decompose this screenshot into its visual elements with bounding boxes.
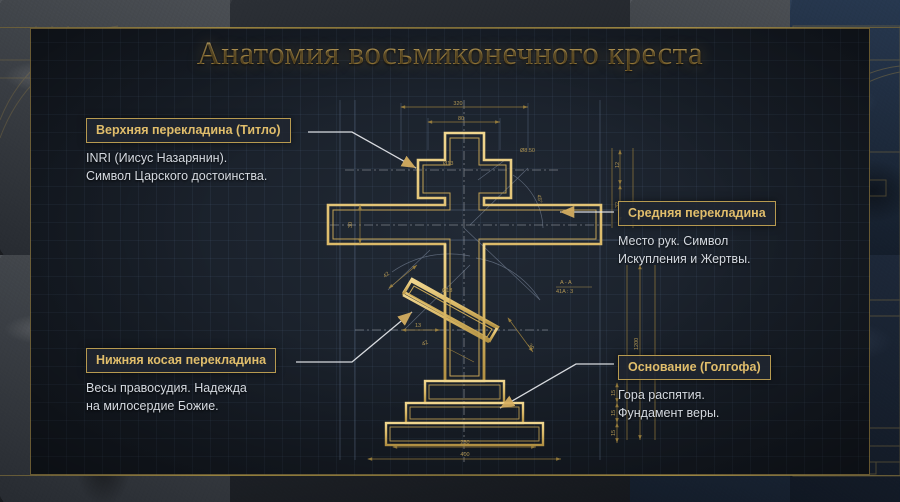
- dim-fraction-bottom: 41A : 3: [556, 289, 573, 295]
- dim-top-bar-width: 320: [453, 101, 462, 107]
- annotation-base-body: Гора распятия. Фундамент веры.: [618, 387, 771, 423]
- annotation-base-label[interactable]: Основание (Голгофа): [618, 355, 771, 380]
- dim-angle: 45°: [535, 194, 543, 203]
- dim-slant-a: 42: [382, 271, 391, 280]
- dim-fraction-top: A - A: [560, 280, 572, 286]
- leader-top: [308, 132, 416, 168]
- leader-base: [500, 364, 614, 408]
- dim-base-outer: 400: [460, 452, 469, 458]
- annotation-top-bar: Верхняя перекладина (Титло) INRI (Иисус …: [86, 118, 291, 186]
- dim-step-1: 15: [611, 390, 617, 396]
- dim-right-a: 12: [615, 162, 621, 168]
- annotation-middle-bar-body: Место рук. Символ Искупления и Жертвы.: [618, 233, 776, 269]
- dim-mid-bar-height: 30: [348, 222, 354, 228]
- dim-total-height: 1200: [634, 338, 640, 350]
- slide-canvas: Анатомия восьмиконечного креста: [0, 0, 900, 502]
- dim-phi-top: Ø13: [443, 161, 453, 167]
- dim-titlo-width: 80: [458, 116, 464, 122]
- dim-slant-gap: 13: [415, 323, 421, 329]
- dim-step-3: 15: [611, 430, 617, 436]
- annotation-middle-bar-label[interactable]: Средняя перекладина: [618, 201, 776, 226]
- dim-slant-angle: 42: [421, 340, 429, 348]
- dim-step-2: 15: [611, 410, 617, 416]
- annotation-lower-bar: Нижняя косая перекладина Весы правосудия…: [86, 348, 276, 416]
- annotation-top-bar-body: INRI (Иисус Назарянин). Символ Царского …: [86, 150, 291, 186]
- annotation-top-bar-label[interactable]: Верхняя перекладина (Титло): [86, 118, 291, 143]
- annotation-middle-bar: Средняя перекладина Место рук. Символ Ис…: [618, 201, 776, 269]
- dim-slant-b: 30: [526, 343, 534, 351]
- dim-radius: Ø8.50: [520, 148, 535, 154]
- dim-phi-low: Ø13: [442, 288, 452, 294]
- annotation-lower-bar-body: Весы правосудия. Надежда на милосердие Б…: [86, 380, 276, 416]
- leader-lower: [296, 312, 412, 362]
- dim-base-inner: 230: [460, 440, 469, 446]
- annotation-lower-bar-label[interactable]: Нижняя косая перекладина: [86, 348, 276, 373]
- annotation-base: Основание (Голгофа) Гора распятия. Фунда…: [618, 355, 771, 423]
